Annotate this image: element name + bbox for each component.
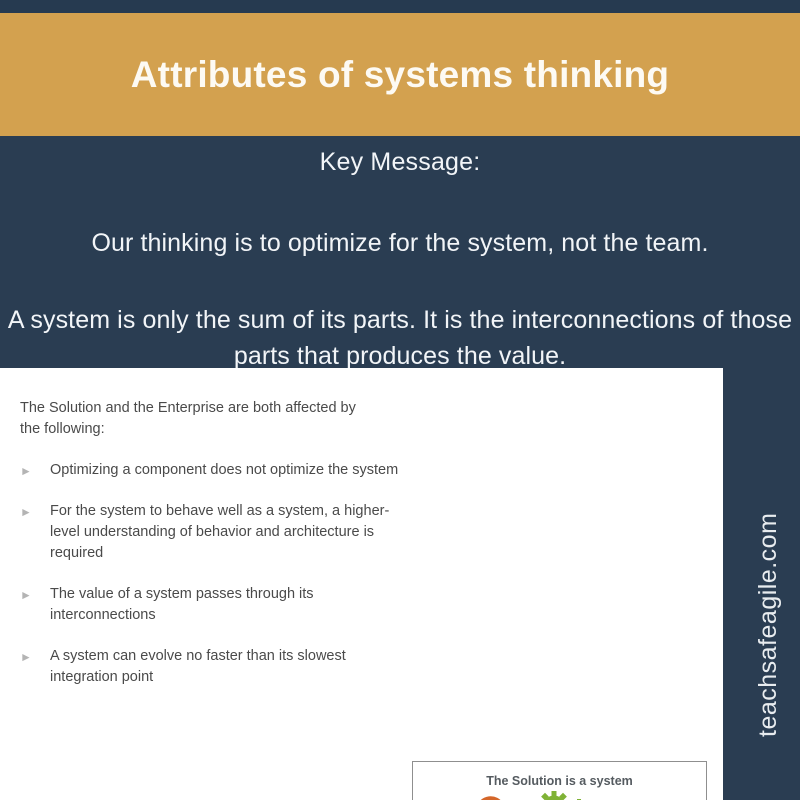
list-item: ► Optimizing a component does not optimi…: [20, 460, 400, 481]
key-message-line-2: A system is only the sum of its parts. I…: [0, 258, 800, 375]
content-panel: The Solution and the Enterprise are both…: [0, 368, 723, 800]
title-band: Attributes of systems thinking: [0, 13, 800, 136]
site-watermark: teachsafeagile.com: [754, 460, 794, 790]
bullet-list: ► Optimizing a component does not optimi…: [20, 460, 400, 708]
key-message-label: Key Message:: [0, 136, 800, 177]
list-item-label: For the system to behave well as a syste…: [50, 501, 400, 564]
diagram-solution-artwork: [413, 790, 706, 800]
lead-paragraph: The Solution and the Enterprise are both…: [20, 398, 375, 440]
list-item: ► The value of a system passes through i…: [20, 584, 400, 626]
list-item-label: A system can evolve no faster than its s…: [50, 646, 400, 688]
green-gears-icon: [539, 791, 590, 800]
list-item: ► A system can evolve no faster than its…: [20, 646, 400, 688]
slide-canvas: Attributes of systems thinking Key Messa…: [0, 0, 800, 800]
triangle-bullet-icon: ►: [20, 646, 50, 688]
solution-diagram-svg: [413, 790, 708, 800]
page-title: Attributes of systems thinking: [131, 54, 669, 96]
key-message-line-1: Our thinking is to optimize for the syst…: [0, 177, 800, 258]
list-item-label: Optimizing a component does not optimize…: [50, 460, 400, 481]
key-message-section: Key Message: Our thinking is to optimize…: [0, 136, 800, 368]
diagram-caption: The Solution is a system: [413, 762, 706, 790]
list-item-label: The value of a system passes through its…: [50, 584, 400, 626]
diagram-solution-is-a-system: The Solution is a system: [412, 761, 707, 800]
triangle-bullet-icon: ►: [20, 584, 50, 626]
triangle-bullet-icon: ►: [20, 460, 50, 481]
top-accent-strip: [0, 0, 800, 13]
list-item: ► For the system to behave well as a sys…: [20, 501, 400, 564]
triangle-bullet-icon: ►: [20, 501, 50, 564]
